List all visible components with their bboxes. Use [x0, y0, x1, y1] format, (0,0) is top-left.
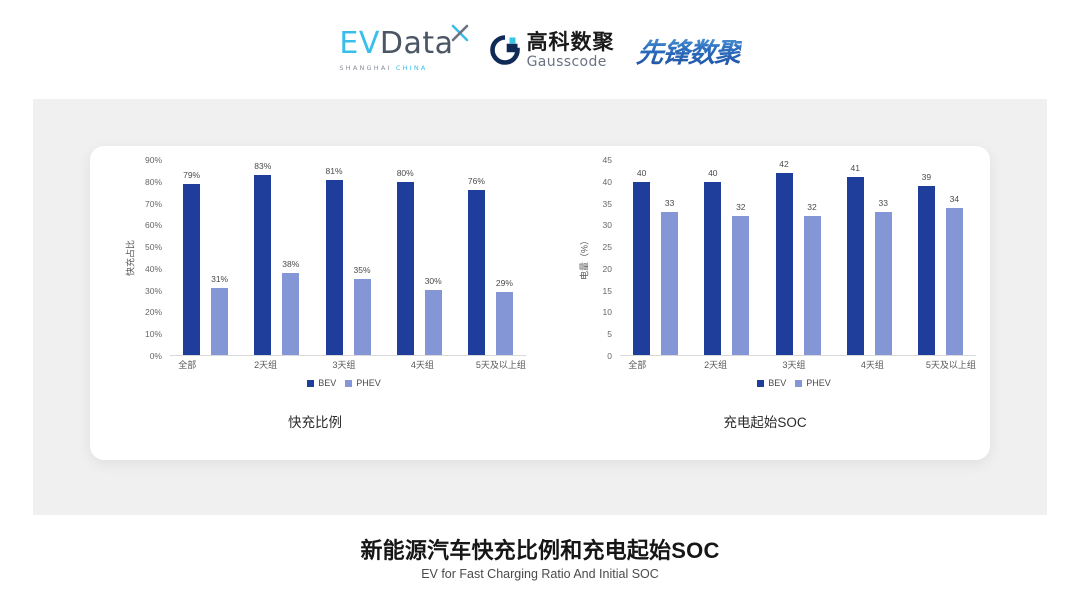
legend-item-phev[interactable]: PHEV	[795, 378, 831, 388]
x-axis-label: 全部	[598, 358, 676, 371]
chart-initial-soc: 电量（%） 45 40 35 30 25 20 15 10 5 0 403340…	[540, 146, 990, 460]
y-tick-label: 45	[603, 155, 612, 165]
bar-group: 81%35%	[312, 160, 383, 355]
gausscode-logo: 高科数聚 Gausscode	[490, 32, 615, 69]
bar-bev[interactable]: 40	[633, 182, 650, 355]
bar-value-label: 40	[637, 168, 646, 178]
y-tick-label: 30	[603, 220, 612, 230]
page-title: 新能源汽车快充比例和充电起始SOC	[0, 533, 1080, 565]
bar-bev[interactable]: 81%	[326, 180, 343, 356]
bar-phev[interactable]: 30%	[425, 290, 442, 355]
y-tick-label: 20	[603, 264, 612, 274]
charts-card: 快充占比 90% 80% 70% 60% 50% 40% 30% 20% 10%…	[90, 146, 990, 460]
bar-group: 76%29%	[455, 160, 526, 355]
bar-bev[interactable]: 80%	[397, 182, 414, 355]
legend-swatch-bev-icon	[307, 380, 314, 387]
legend-swatch-phev-icon	[345, 380, 352, 387]
y-tick-label: 25	[603, 242, 612, 252]
bar-value-label: 40	[708, 168, 717, 178]
evdata-letter-e: E	[339, 26, 358, 61]
legend-label-bev: BEV	[318, 378, 336, 388]
bar-group: 4032	[691, 160, 762, 355]
bar-bev[interactable]: 42	[776, 173, 793, 355]
xianfeng-logo: 先锋数聚	[635, 31, 743, 70]
bar-phev[interactable]: 29%	[496, 292, 513, 355]
bar-group: 79%31%	[170, 160, 241, 355]
x-axis-label: 4天组	[833, 358, 911, 371]
bar-value-label: 79%	[183, 170, 200, 180]
y-tick-label: 5	[607, 329, 612, 339]
x-axis-label: 2天组	[226, 358, 304, 371]
bar-bev[interactable]: 79%	[183, 184, 200, 355]
bar-groups-left: 79%31%83%38%81%35%80%30%76%29%	[170, 160, 526, 355]
x-axis-label: 全部	[148, 358, 226, 371]
bar-group: 83%38%	[241, 160, 312, 355]
y-tick-label: 40	[603, 177, 612, 187]
bar-value-label: 35%	[353, 265, 370, 275]
chart-caption-right: 充电起始SOC	[540, 411, 990, 431]
y-ticks-left: 90% 80% 70% 60% 50% 40% 30% 20% 10% 0%	[130, 160, 166, 356]
bar-value-label: 31%	[211, 274, 228, 284]
bar-group: 3934	[905, 160, 976, 355]
bar-value-label: 39	[922, 172, 931, 182]
bar-value-label: 33	[878, 198, 887, 208]
legend-item-phev[interactable]: PHEV	[345, 378, 381, 388]
bar-value-label: 76%	[468, 176, 485, 186]
bar-bev[interactable]: 40	[704, 182, 721, 355]
y-tick-label: 70%	[145, 199, 162, 209]
x-axis-label: 3天组	[305, 358, 383, 371]
bar-phev[interactable]: 32	[804, 216, 821, 355]
evdata-tagline-china: CHINA	[396, 64, 428, 72]
y-tick-label: 40%	[145, 264, 162, 274]
legend-item-bev[interactable]: BEV	[757, 378, 786, 388]
bar-value-label: 32	[807, 202, 816, 212]
y-tick-label: 35	[603, 199, 612, 209]
x-axis-label: 3天组	[755, 358, 833, 371]
x-axis-label: 4天组	[383, 358, 461, 371]
bar-value-label: 41	[850, 163, 859, 173]
chart-plot-area-left: 快充占比 90% 80% 70% 60% 50% 40% 30% 20% 10%…	[112, 160, 526, 356]
bar-value-label: 38%	[282, 259, 299, 269]
evdata-letter-v: V	[359, 26, 380, 61]
x-axis-label: 5天及以上组	[912, 358, 990, 371]
bar-value-label: 29%	[496, 278, 513, 288]
bar-value-label: 42	[779, 159, 788, 169]
bar-group: 80%30%	[384, 160, 455, 355]
bar-value-label: 33	[665, 198, 674, 208]
legend-label-phev: PHEV	[806, 378, 831, 388]
x-axis-label: 2天组	[676, 358, 754, 371]
bar-group: 4232	[762, 160, 833, 355]
x-mark-icon	[450, 23, 470, 43]
chart-fast-charging-ratio: 快充占比 90% 80% 70% 60% 50% 40% 30% 20% 10%…	[90, 146, 540, 460]
g-circle-mark-icon	[490, 35, 520, 65]
y-tick-label: 60%	[145, 220, 162, 230]
legend-swatch-bev-icon	[757, 380, 764, 387]
bar-value-label: 80%	[397, 168, 414, 178]
evdata-tagline: SHANGHAI CHINA	[339, 64, 427, 72]
bar-group: 4033	[620, 160, 691, 355]
legend-right: BEV PHEV	[598, 378, 990, 388]
y-tick-label: 90%	[145, 155, 162, 165]
bar-phev[interactable]: 35%	[354, 279, 371, 355]
legend-left: BEV PHEV	[148, 378, 540, 388]
y-ticks-right: 45 40 35 30 25 20 15 10 5 0	[580, 160, 616, 356]
y-tick-label: 10	[603, 307, 612, 317]
y-tick-label: 80%	[145, 177, 162, 187]
gausscode-text: 高科数聚 Gausscode	[527, 32, 615, 69]
bar-groups-right: 40334032423241333934	[620, 160, 976, 355]
page-subtitle: EV for Fast Charging Ratio And Initial S…	[0, 567, 1080, 581]
evdata-tagline-shanghai: SHANGHAI	[339, 64, 391, 72]
bars-plot-right: 40334032423241333934	[620, 160, 976, 356]
chart-plot-area-right: 电量（%） 45 40 35 30 25 20 15 10 5 0 403340…	[562, 160, 976, 356]
gausscode-english-name: Gausscode	[527, 55, 615, 69]
bar-phev[interactable]: 33	[661, 212, 678, 355]
bars-plot-left: 79%31%83%38%81%35%80%30%76%29%	[170, 160, 526, 356]
evdata-letters-data: Data	[380, 26, 454, 61]
x-axis-labels-left: 全部2天组3天组4天组5天及以上组	[148, 358, 540, 371]
evdata-logo: EVData SHANGHAI CHINA	[339, 29, 467, 72]
x-axis-labels-right: 全部2天组3天组4天组5天及以上组	[598, 358, 990, 371]
legend-swatch-phev-icon	[795, 380, 802, 387]
bar-bev[interactable]: 76%	[468, 190, 485, 355]
bar-phev[interactable]: 33	[875, 212, 892, 355]
x-axis-label: 5天及以上组	[462, 358, 540, 371]
legend-label-phev: PHEV	[356, 378, 381, 388]
bar-value-label: 32	[736, 202, 745, 212]
bar-bev[interactable]: 39	[918, 186, 935, 355]
bar-phev[interactable]: 31%	[211, 288, 228, 355]
bar-value-label: 83%	[254, 161, 271, 171]
logo-bar: EVData SHANGHAI CHINA 高科数聚 Gausscode 先锋数…	[0, 22, 1080, 78]
bar-phev[interactable]: 32	[732, 216, 749, 355]
bar-value-label: 81%	[325, 166, 342, 176]
bar-phev[interactable]: 34	[946, 208, 963, 355]
bar-value-label: 34	[950, 194, 959, 204]
y-tick-label: 15	[603, 286, 612, 296]
gausscode-chinese-name: 高科数聚	[527, 32, 615, 53]
charts-row: 快充占比 90% 80% 70% 60% 50% 40% 30% 20% 10%…	[90, 146, 990, 460]
legend-item-bev[interactable]: BEV	[307, 378, 336, 388]
bar-group: 4133	[834, 160, 905, 355]
chart-caption-left: 快充比例	[90, 411, 540, 431]
bar-value-label: 30%	[425, 276, 442, 286]
bar-bev[interactable]: 41	[847, 177, 864, 355]
y-tick-label: 50%	[145, 242, 162, 252]
bar-phev[interactable]: 38%	[282, 273, 299, 355]
evdata-wordmark: EVData	[339, 29, 453, 59]
y-tick-label: 30%	[145, 286, 162, 296]
legend-label-bev: BEV	[768, 378, 786, 388]
bar-bev[interactable]: 83%	[254, 175, 271, 355]
y-tick-label: 20%	[145, 307, 162, 317]
y-tick-label: 10%	[145, 329, 162, 339]
